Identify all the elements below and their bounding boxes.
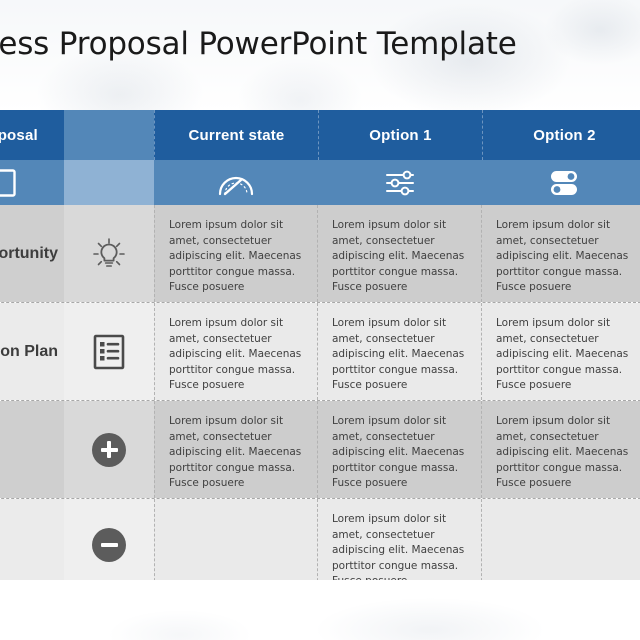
document-icon: [0, 169, 16, 197]
table-header-row: Proposal Current state Option 1 Option 2: [0, 110, 640, 160]
row-icon-cell-action-plan: [64, 303, 154, 400]
cell-option-1: Lorem ipsum dolor sit amet, consectetuer…: [318, 205, 482, 302]
cell-option-2: [482, 499, 640, 591]
header-option-1: Option 1: [318, 110, 482, 160]
toggles-icon: [547, 169, 581, 197]
header-current-state: Current state: [154, 110, 318, 160]
table-row: Lorem ipsum dolor sit amet, consectetuer…: [0, 499, 640, 591]
header-sliders-icon-cell: [318, 160, 482, 205]
cell-current-state: [154, 499, 318, 591]
page-title: Business Proposal PowerPoint Template: [0, 26, 534, 62]
cell-option-1: Lorem ipsum dolor sit amet, consectetuer…: [318, 401, 482, 498]
cell-current-state: Lorem ipsum dolor sit amet, consectetuer…: [154, 401, 318, 498]
gauge-icon: [216, 169, 256, 197]
header-toggles-icon-cell: [482, 160, 640, 205]
cell-current-state: Lorem ipsum dolor sit amet, consectetuer…: [154, 205, 318, 302]
row-icon-cell-pros: [64, 401, 154, 498]
header-proposal: Proposal: [0, 110, 64, 160]
cell-option-1: Lorem ipsum dolor sit amet, consectetuer…: [318, 499, 482, 591]
slide-canvas: Business Proposal PowerPoint Template Pr…: [0, 0, 640, 640]
header-icon-spacer: [64, 110, 154, 160]
lightbulb-icon: [91, 236, 127, 272]
row-icon-cell-cons: [64, 499, 154, 591]
row-label-cons: [0, 499, 64, 591]
cell-option-2: Lorem ipsum dolor sit amet, consectetuer…: [482, 303, 640, 400]
table-row: Opportunity: [0, 205, 640, 302]
header-gauge-icon-cell: [154, 160, 318, 205]
sliders-icon: [385, 169, 415, 197]
row-label-pros: [0, 401, 64, 498]
cell-option-2: Lorem ipsum dolor sit amet, consectetuer…: [482, 205, 640, 302]
row-icon-cell-opportunity: [64, 205, 154, 302]
cell-option-1: Lorem ipsum dolor sit amet, consectetuer…: [318, 303, 482, 400]
row-label-action-plan: Action Plan: [0, 303, 64, 400]
table-header-icon-row: [0, 160, 640, 205]
row-label-opportunity: Opportunity: [0, 205, 64, 302]
minus-circle-icon: [92, 528, 126, 562]
table-row: Action Plan: [0, 303, 640, 400]
header-option-2: Option 2: [482, 110, 640, 160]
cell-option-2: Lorem ipsum dolor sit amet, consectetuer…: [482, 401, 640, 498]
header-icon-spacer-2: [64, 160, 154, 205]
header-document-icon-cell: [0, 160, 64, 205]
plus-circle-icon: [92, 433, 126, 467]
checklist-icon: [93, 334, 125, 370]
table-row: Lorem ipsum dolor sit amet, consectetuer…: [0, 401, 640, 498]
comparison-matrix: Proposal Current state Option 1 Option 2: [0, 110, 640, 591]
cell-current-state: Lorem ipsum dolor sit amet, consectetuer…: [154, 303, 318, 400]
